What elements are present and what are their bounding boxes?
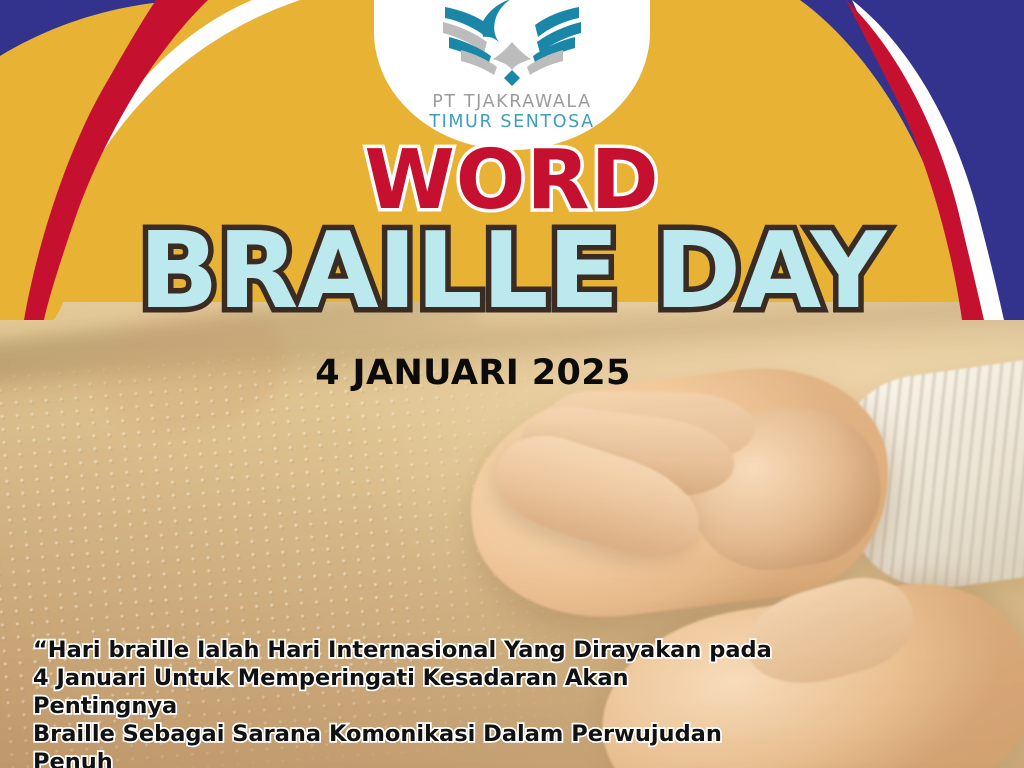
headline-braille-day: BRAILLE DAY <box>0 219 1024 324</box>
company-name-line1: PT TJAKRAWALA <box>432 92 592 112</box>
quote-text: “Hari braille Ialah Hari Internasional Y… <box>33 636 773 768</box>
company-name-line2: TIMUR SENTOSA <box>429 112 594 134</box>
event-date: 4 JANUARI 2025 <box>0 353 1024 393</box>
eagle-wings-icon <box>437 0 587 88</box>
poster-canvas: PT TJAKRAWALA TIMUR SENTOSA WORD BRAILLE… <box>0 0 1024 768</box>
